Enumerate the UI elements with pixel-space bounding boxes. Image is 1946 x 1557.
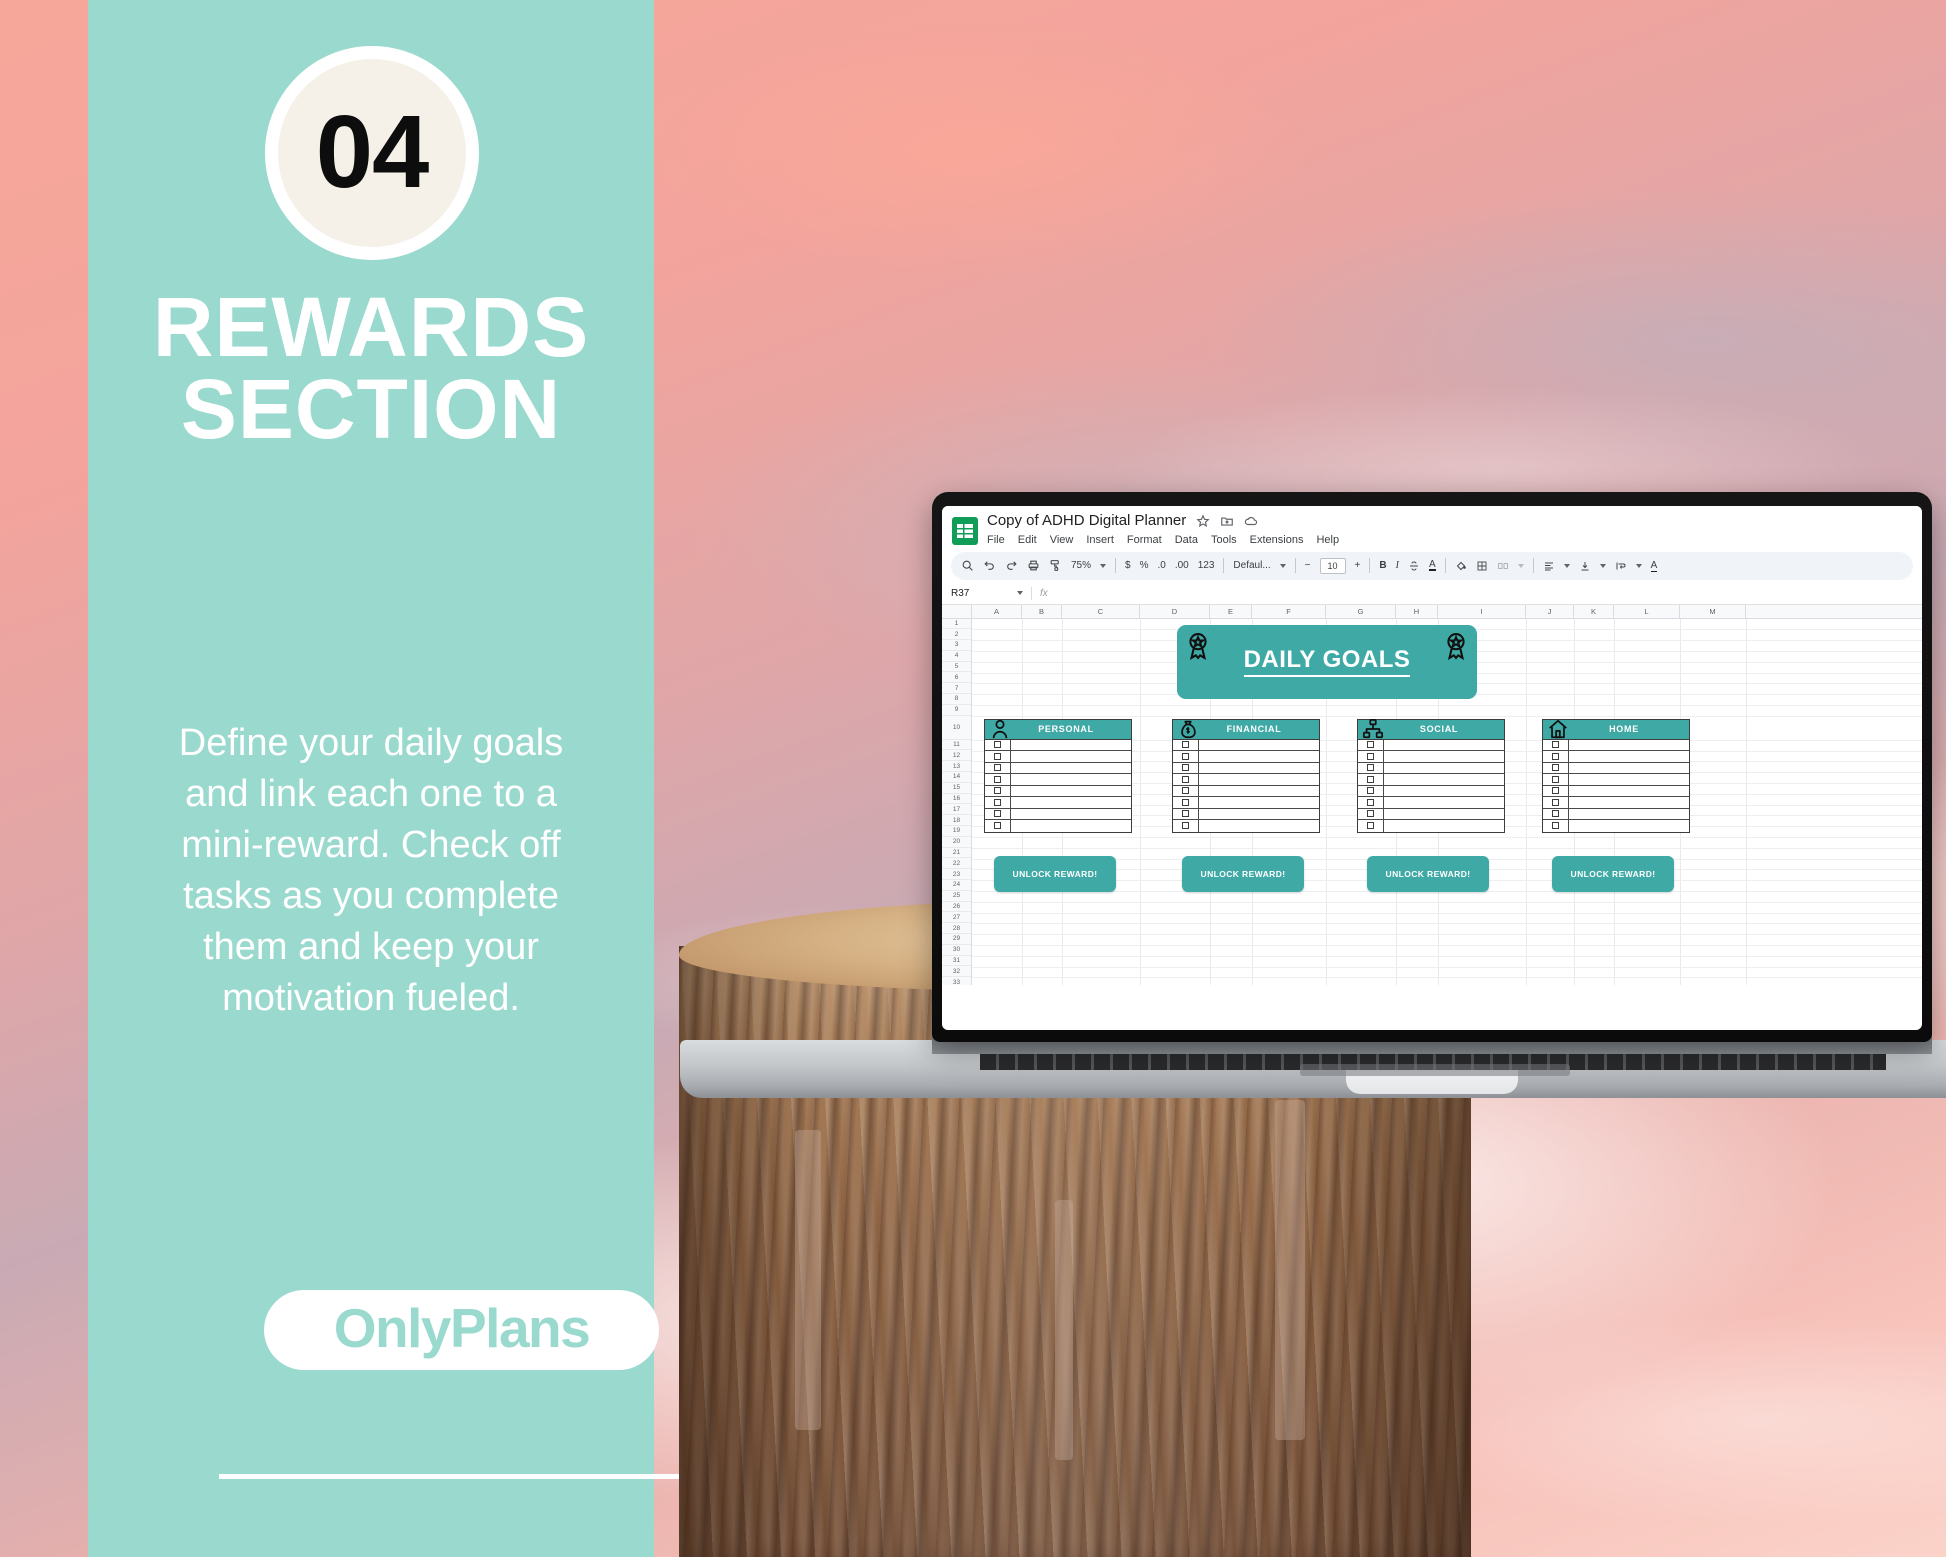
goal-row — [985, 786, 1131, 798]
checkbox-icon[interactable] — [1552, 753, 1559, 760]
checkbox-icon[interactable] — [994, 799, 1001, 806]
zoom-level[interactable]: 75% — [1071, 560, 1091, 571]
goal-text-cell[interactable] — [1011, 751, 1131, 762]
row-header-30[interactable]: 30 — [942, 945, 971, 956]
row-header-33[interactable]: 33 — [942, 977, 971, 984]
row-header-23[interactable]: 23 — [942, 869, 971, 880]
font-family-select[interactable]: Defaul... — [1233, 560, 1270, 571]
category-header: FINANCIAL — [1173, 720, 1319, 740]
chevron-down-icon[interactable] — [1564, 564, 1570, 568]
column-header-k[interactable]: K — [1574, 605, 1614, 618]
goal-row — [1173, 774, 1319, 786]
goal-checkbox-cell[interactable] — [1543, 751, 1569, 762]
goal-row — [1358, 774, 1504, 786]
goal-text-cell[interactable] — [1384, 797, 1504, 808]
row-header-29[interactable]: 29 — [942, 934, 971, 945]
award-ribbon-icon — [1185, 631, 1211, 661]
checkbox-icon[interactable] — [994, 810, 1001, 817]
checkbox-icon[interactable] — [994, 741, 1001, 748]
checkbox-icon[interactable] — [1552, 799, 1559, 806]
goal-checkbox-cell[interactable] — [1358, 751, 1384, 762]
goal-text-cell[interactable] — [1384, 809, 1504, 820]
goal-row — [985, 740, 1131, 752]
row-header-22[interactable]: 22 — [942, 858, 971, 869]
row-header-7[interactable]: 7 — [942, 683, 971, 694]
step-badge: 04 — [265, 46, 479, 260]
goal-checkbox-cell[interactable] — [1358, 820, 1384, 832]
unlock-reward-button-financial[interactable]: UNLOCK REWARD! — [1182, 856, 1304, 892]
column-header-f[interactable]: F — [1252, 605, 1326, 618]
menu-item-extensions[interactable]: Extensions — [1250, 534, 1304, 546]
column-header-a[interactable]: A — [972, 605, 1022, 618]
sheet-canvas[interactable]: DAILY GOALS PERSONALFINANCIALSOCIALHOME … — [972, 619, 1922, 985]
laptop-trackpad — [1300, 1064, 1570, 1076]
checkbox-icon[interactable] — [1367, 787, 1374, 794]
checkbox-icon[interactable] — [1552, 776, 1559, 783]
goal-text-cell[interactable] — [1199, 820, 1319, 832]
text-rotation-button[interactable]: A — [1651, 560, 1658, 572]
award-ribbon-icon — [1443, 631, 1469, 661]
checkbox-icon[interactable] — [1182, 822, 1189, 829]
row-header-28[interactable]: 28 — [942, 923, 971, 934]
checkbox-icon[interactable] — [1182, 810, 1189, 817]
goal-row — [1358, 751, 1504, 763]
goal-text-cell[interactable] — [1384, 774, 1504, 785]
goal-checkbox-cell[interactable] — [1543, 797, 1569, 808]
chevron-down-icon[interactable] — [1518, 564, 1524, 568]
chevron-down-icon[interactable] — [1280, 564, 1286, 568]
goal-row — [1543, 820, 1689, 832]
checkbox-icon[interactable] — [1182, 741, 1189, 748]
goal-row — [1543, 809, 1689, 821]
goal-checkbox-cell[interactable] — [985, 740, 1011, 751]
paint-format-icon[interactable] — [1049, 559, 1062, 572]
description-text: Define your daily goals and link each on… — [143, 718, 599, 1023]
menu-item-insert[interactable]: Insert — [1086, 534, 1114, 546]
print-icon[interactable] — [1027, 559, 1040, 572]
goal-checkbox-cell[interactable] — [1543, 820, 1569, 832]
chevron-down-icon[interactable] — [1100, 564, 1106, 568]
goal-checkbox-cell[interactable] — [1173, 740, 1199, 751]
checkbox-icon[interactable] — [994, 753, 1001, 760]
checkbox-icon[interactable] — [1367, 753, 1374, 760]
goal-text-cell[interactable] — [1384, 820, 1504, 832]
goal-checkbox-cell[interactable] — [1173, 797, 1199, 808]
goal-row — [1173, 751, 1319, 763]
category-header: PERSONAL — [985, 720, 1131, 740]
checkbox-icon[interactable] — [1367, 741, 1374, 748]
move-to-folder-icon[interactable] — [1220, 514, 1234, 528]
fx-icon: fx — [1040, 588, 1048, 599]
goal-row — [985, 809, 1131, 821]
goal-checkbox-cell[interactable] — [1173, 763, 1199, 774]
column-headers: ABCDEFGHIJKLM — [942, 605, 1922, 619]
more-formats-button[interactable]: 123 — [1198, 560, 1215, 571]
brand-logo-text: OnlyPlans — [334, 1301, 589, 1356]
goal-text-cell[interactable] — [1199, 797, 1319, 808]
row-header-11[interactable]: 11 — [942, 740, 971, 751]
goal-text-cell[interactable] — [1384, 786, 1504, 797]
toolbar-divider — [1295, 558, 1296, 573]
menu-item-tools[interactable]: Tools — [1211, 534, 1237, 546]
banner-title: DAILY GOALS — [1244, 646, 1411, 677]
goal-text-cell[interactable] — [1569, 774, 1689, 785]
menu-item-file[interactable]: File — [987, 534, 1005, 546]
divider — [219, 1474, 694, 1479]
row-header-12[interactable]: 12 — [942, 750, 971, 761]
star-icon[interactable] — [1196, 514, 1210, 528]
row-header-20[interactable]: 20 — [942, 837, 971, 848]
chevron-down-icon[interactable] — [1600, 564, 1606, 568]
row-header-4[interactable]: 4 — [942, 651, 971, 662]
checkbox-icon[interactable] — [1552, 741, 1559, 748]
row-header-5[interactable]: 5 — [942, 662, 971, 673]
goal-checkbox-cell[interactable] — [985, 774, 1011, 785]
chevron-down-icon[interactable] — [1636, 564, 1642, 568]
text-color-button[interactable]: A — [1429, 560, 1436, 572]
goal-row — [985, 751, 1131, 763]
merge-cells-icon[interactable] — [1497, 560, 1509, 572]
promo-left-panel: 04 REWARDS SECTION Define your daily goa… — [88, 0, 654, 1557]
goal-row — [1358, 763, 1504, 775]
goal-row — [1543, 774, 1689, 786]
goal-row — [1173, 763, 1319, 775]
checkbox-icon[interactable] — [994, 776, 1001, 783]
goal-checkbox-cell[interactable] — [1543, 763, 1569, 774]
toolbar-divider — [1369, 558, 1370, 573]
row-header-26[interactable]: 26 — [942, 902, 971, 913]
goal-row — [1173, 740, 1319, 752]
formula-bar: R37 fx — [942, 583, 1922, 605]
stump-streak — [1275, 1100, 1305, 1440]
checkbox-icon[interactable] — [1367, 822, 1374, 829]
decrease-decimal-button[interactable]: .0 — [1157, 560, 1165, 571]
goal-row — [985, 774, 1131, 786]
category-header: HOME — [1543, 720, 1689, 740]
checkbox-icon[interactable] — [1552, 822, 1559, 829]
sheets-toolbar: 75% $ % .0 .00 123 Defaul... − 10 + B I … — [951, 552, 1913, 580]
column-header-j[interactable]: J — [1526, 605, 1574, 618]
goal-text-cell[interactable] — [1011, 774, 1131, 785]
goal-text-cell[interactable] — [1011, 809, 1131, 820]
checkbox-icon[interactable] — [1367, 810, 1374, 817]
menu-item-edit[interactable]: Edit — [1018, 534, 1037, 546]
text-wrap-icon[interactable] — [1615, 560, 1627, 572]
laptop-screen: Copy of ADHD Digital Planner File Edit V… — [942, 506, 1922, 1030]
person-icon — [989, 717, 1011, 741]
menu-item-help[interactable]: Help — [1316, 534, 1339, 546]
goal-checkbox-cell[interactable] — [985, 751, 1011, 762]
row-header-21[interactable]: 21 — [942, 848, 971, 859]
row-header-25[interactable]: 25 — [942, 891, 971, 902]
goal-text-cell[interactable] — [1569, 763, 1689, 774]
brand-logo: OnlyPlans — [264, 1290, 659, 1370]
checkbox-icon[interactable] — [1182, 787, 1189, 794]
goal-text-cell[interactable] — [1569, 797, 1689, 808]
unlock-reward-button-home[interactable]: UNLOCK REWARD! — [1552, 856, 1674, 892]
goal-row — [1173, 820, 1319, 832]
row-header-32[interactable]: 32 — [942, 966, 971, 977]
headline-line-2: SECTION — [88, 368, 654, 450]
goal-row — [1358, 820, 1504, 832]
goal-text-cell[interactable] — [1199, 774, 1319, 785]
goal-text-cell[interactable] — [1011, 740, 1131, 751]
step-number: 04 — [316, 100, 429, 203]
toolbar-divider — [1223, 558, 1224, 573]
checkbox-icon[interactable] — [1182, 764, 1189, 771]
goal-checkbox-cell[interactable] — [1358, 809, 1384, 820]
row-header-10[interactable]: 10 — [942, 716, 971, 740]
checkbox-icon[interactable] — [994, 822, 1001, 829]
row-header-31[interactable]: 31 — [942, 956, 971, 967]
network-icon — [1362, 717, 1384, 741]
fill-color-icon[interactable] — [1455, 560, 1467, 572]
headline-line-1: REWARDS — [153, 280, 589, 374]
goal-checkbox-cell[interactable] — [1358, 797, 1384, 808]
checkbox-icon[interactable] — [1182, 776, 1189, 783]
goal-checkbox-cell[interactable] — [985, 763, 1011, 774]
money-bag-icon — [1177, 717, 1199, 741]
row-header-24[interactable]: 24 — [942, 880, 971, 891]
column-header-l[interactable]: L — [1614, 605, 1680, 618]
toolbar-divider — [1445, 558, 1446, 573]
unlock-reward-label: UNLOCK REWARD! — [1386, 869, 1471, 879]
column-header-d[interactable]: D — [1140, 605, 1210, 618]
goal-checkbox-cell[interactable] — [1358, 740, 1384, 751]
column-header-b[interactable]: B — [1022, 605, 1062, 618]
menu-item-format[interactable]: Format — [1127, 534, 1162, 546]
column-header-i[interactable]: I — [1438, 605, 1526, 618]
unlock-reward-label: UNLOCK REWARD! — [1201, 869, 1286, 879]
stump-streak — [1055, 1200, 1073, 1460]
checkbox-icon[interactable] — [1182, 799, 1189, 806]
toolbar-divider — [1115, 558, 1116, 573]
goal-row — [985, 763, 1131, 775]
goal-checkbox-cell[interactable] — [1173, 751, 1199, 762]
stump-streak — [795, 1130, 821, 1430]
goal-text-cell[interactable] — [1569, 820, 1689, 832]
vertical-align-icon[interactable] — [1579, 560, 1591, 572]
category-table-personal: PERSONAL — [984, 719, 1132, 833]
increase-decimal-button[interactable]: .00 — [1175, 560, 1189, 571]
unlock-reward-label: UNLOCK REWARD! — [1571, 869, 1656, 879]
row-header-1[interactable]: 1 — [942, 619, 971, 630]
percent-format-button[interactable]: % — [1140, 560, 1149, 571]
goal-checkbox-cell[interactable] — [1543, 774, 1569, 785]
goal-checkbox-cell[interactable] — [1543, 740, 1569, 751]
increase-font-size-button[interactable]: + — [1355, 560, 1361, 571]
goal-checkbox-cell[interactable] — [1358, 774, 1384, 785]
row-header-19[interactable]: 19 — [942, 826, 971, 837]
goal-text-cell[interactable] — [1011, 786, 1131, 797]
formula-divider — [1031, 587, 1032, 600]
row-header-9[interactable]: 9 — [942, 705, 971, 716]
column-header-h[interactable]: H — [1396, 605, 1438, 618]
goal-checkbox-cell[interactable] — [1543, 786, 1569, 797]
name-box[interactable]: R37 — [951, 588, 1009, 599]
goal-row — [1358, 797, 1504, 809]
row-header-16[interactable]: 16 — [942, 794, 971, 805]
row-header-15[interactable]: 15 — [942, 783, 971, 794]
unlock-reward-button-social[interactable]: UNLOCK REWARD! — [1367, 856, 1489, 892]
goal-checkbox-cell[interactable] — [1173, 774, 1199, 785]
row-header-2[interactable]: 2 — [942, 629, 971, 640]
goal-checkbox-cell[interactable] — [1358, 763, 1384, 774]
row-headers: 1234567891011121314151617181920212223242… — [942, 619, 972, 985]
sheets-titlebar: Copy of ADHD Digital Planner File Edit V… — [942, 506, 1922, 550]
page-title: REWARDS SECTION — [88, 286, 654, 451]
goal-checkbox-cell[interactable] — [1173, 809, 1199, 820]
checkbox-icon[interactable] — [994, 764, 1001, 771]
category-table-social: SOCIAL — [1357, 719, 1505, 833]
goal-row — [1173, 786, 1319, 798]
goal-row — [1543, 740, 1689, 752]
house-icon — [1547, 717, 1569, 741]
goal-row — [1358, 740, 1504, 752]
row-header-14[interactable]: 14 — [942, 772, 971, 783]
goal-checkbox-cell[interactable] — [1543, 809, 1569, 820]
font-size-input[interactable]: 10 — [1320, 558, 1346, 574]
category-table-financial: FINANCIAL — [1172, 719, 1320, 833]
goal-text-cell[interactable] — [1011, 820, 1131, 832]
currency-format-button[interactable]: $ — [1125, 560, 1131, 571]
goal-text-cell[interactable] — [1384, 763, 1504, 774]
daily-goals-banner: DAILY GOALS — [1177, 625, 1477, 699]
goal-text-cell[interactable] — [1011, 797, 1131, 808]
goal-row — [985, 797, 1131, 809]
row-header-3[interactable]: 3 — [942, 640, 971, 651]
goal-row — [1173, 809, 1319, 821]
cloud-saved-icon[interactable] — [1244, 514, 1258, 528]
checkbox-icon[interactable] — [1367, 764, 1374, 771]
unlock-reward-button-personal[interactable]: UNLOCK REWARD! — [994, 856, 1116, 892]
sheets-menubar: File Edit View Insert Format Data Tools … — [987, 534, 1339, 546]
row-header-13[interactable]: 13 — [942, 761, 971, 772]
goal-text-cell[interactable] — [1199, 809, 1319, 820]
goal-text-cell[interactable] — [1199, 786, 1319, 797]
column-header-m[interactable]: M — [1680, 605, 1746, 618]
goal-text-cell[interactable] — [1569, 786, 1689, 797]
row-header-8[interactable]: 8 — [942, 694, 971, 705]
goal-row — [1358, 809, 1504, 821]
row-header-18[interactable]: 18 — [942, 815, 971, 826]
category-table-home: HOME — [1542, 719, 1690, 833]
goal-checkbox-cell[interactable] — [1173, 786, 1199, 797]
checkbox-icon[interactable] — [1367, 776, 1374, 783]
goal-text-cell[interactable] — [1569, 809, 1689, 820]
menu-item-view[interactable]: View — [1050, 534, 1074, 546]
goal-row — [1543, 786, 1689, 798]
goal-checkbox-cell[interactable] — [985, 786, 1011, 797]
goal-text-cell[interactable] — [1199, 751, 1319, 762]
goal-row — [1358, 786, 1504, 798]
goal-text-cell[interactable] — [1384, 740, 1504, 751]
toolbar-divider — [1533, 558, 1534, 573]
spreadsheet-grid: ABCDEFGHIJKLM 12345678910111213141516171… — [942, 605, 1922, 985]
goal-checkbox-cell[interactable] — [1173, 820, 1199, 832]
goal-text-cell[interactable] — [1384, 751, 1504, 762]
row-header-27[interactable]: 27 — [942, 912, 971, 923]
checkbox-icon[interactable] — [1552, 787, 1559, 794]
horizontal-align-icon[interactable] — [1543, 560, 1555, 572]
checkbox-icon[interactable] — [1552, 810, 1559, 817]
checkbox-icon[interactable] — [1367, 799, 1374, 806]
strikethrough-icon[interactable] — [1408, 560, 1420, 572]
category-header: SOCIAL — [1358, 720, 1504, 740]
goal-text-cell[interactable] — [1199, 740, 1319, 751]
document-title[interactable]: Copy of ADHD Digital Planner — [987, 513, 1186, 530]
row-header-6[interactable]: 6 — [942, 672, 971, 683]
column-header-c[interactable]: C — [1062, 605, 1140, 618]
goal-row — [1543, 797, 1689, 809]
goal-checkbox-cell[interactable] — [1358, 786, 1384, 797]
redo-icon[interactable] — [1005, 559, 1018, 572]
checkbox-icon[interactable] — [1552, 764, 1559, 771]
column-header-g[interactable]: G — [1326, 605, 1396, 618]
checkbox-icon[interactable] — [1182, 753, 1189, 760]
goal-checkbox-cell[interactable] — [985, 809, 1011, 820]
goal-checkbox-cell[interactable] — [985, 820, 1011, 832]
goal-checkbox-cell[interactable] — [985, 797, 1011, 808]
laptop-lid: Copy of ADHD Digital Planner File Edit V… — [932, 492, 1932, 1042]
goal-text-cell[interactable] — [1011, 763, 1131, 774]
undo-icon[interactable] — [983, 559, 996, 572]
goal-text-cell[interactable] — [1569, 751, 1689, 762]
goal-row — [1543, 763, 1689, 775]
bold-button[interactable]: B — [1379, 560, 1386, 571]
menu-item-data[interactable]: Data — [1175, 534, 1198, 546]
goal-text-cell[interactable] — [1199, 763, 1319, 774]
checkbox-icon[interactable] — [994, 787, 1001, 794]
select-all-corner[interactable] — [942, 605, 972, 618]
borders-icon[interactable] — [1476, 560, 1488, 572]
unlock-reward-label: UNLOCK REWARD! — [1013, 869, 1098, 879]
google-sheets-logo-icon — [952, 517, 978, 545]
row-header-17[interactable]: 17 — [942, 804, 971, 815]
column-header-e[interactable]: E — [1210, 605, 1252, 618]
decrease-font-size-button[interactable]: − — [1305, 560, 1311, 571]
search-icon[interactable] — [961, 559, 974, 572]
goal-text-cell[interactable] — [1569, 740, 1689, 751]
goal-row — [1543, 751, 1689, 763]
chevron-down-icon[interactable] — [1017, 591, 1023, 595]
goal-row — [985, 820, 1131, 832]
goal-row — [1173, 797, 1319, 809]
italic-button[interactable]: I — [1396, 560, 1399, 571]
